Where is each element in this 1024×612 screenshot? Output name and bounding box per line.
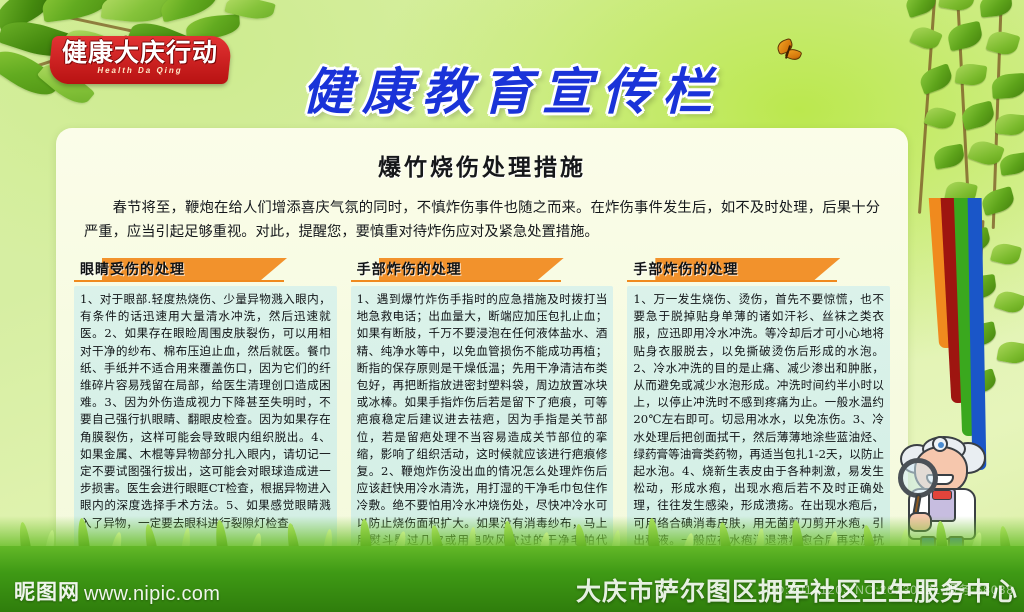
doctor-bowtie — [932, 490, 952, 500]
site-watermark: 昵图网 www.nipic.com — [14, 576, 220, 606]
heading-underline — [627, 280, 837, 282]
id-watermark: ID:20141203 NO:20130321 服务:68038 — [771, 581, 1014, 598]
doctor-head-mirror-icon — [932, 436, 948, 452]
intro-paragraph: 春节将至，鞭炮在给人们增添喜庆气氛的同时，不慎炸伤事件也随之而来。在炸伤事件发生… — [84, 196, 880, 244]
column-heading-hand-2: 手部炸伤的处理 — [627, 258, 890, 282]
poster-canvas: 健康大庆行动 Health Da Qing 健康教育宣传栏 爆竹烧伤处理措施 春… — [0, 0, 1024, 612]
site-watermark-zh: 昵图网 — [14, 576, 80, 606]
column-body-text: 1、对于眼部.轻度热烧伤、少量异物溅入眼内，有条件的话迅速用大量清水冲洗，然后迅… — [80, 291, 331, 532]
column-heading-label: 手部炸伤的处理 — [633, 259, 738, 279]
column-heading-eye: 眼睛受伤的处理 — [74, 258, 337, 282]
column-heading-hand-1: 手部炸伤的处理 — [351, 258, 614, 282]
content-panel: 爆竹烧伤处理措施 春节将至，鞭炮在给人们增添喜庆气氛的同时，不慎炸伤事件也随之而… — [56, 128, 908, 568]
heading-underline — [74, 280, 284, 282]
heading-underline — [351, 280, 561, 282]
magnifying-glass-icon — [898, 458, 938, 498]
column-heading-label: 手部炸伤的处理 — [357, 259, 462, 279]
section-title: 爆竹烧伤处理措施 — [74, 148, 890, 182]
page-title: 健康教育宣传栏 — [0, 52, 1024, 124]
column-heading-label: 眼睛受伤的处理 — [80, 259, 185, 279]
site-watermark-url: www.nipic.com — [84, 583, 220, 606]
